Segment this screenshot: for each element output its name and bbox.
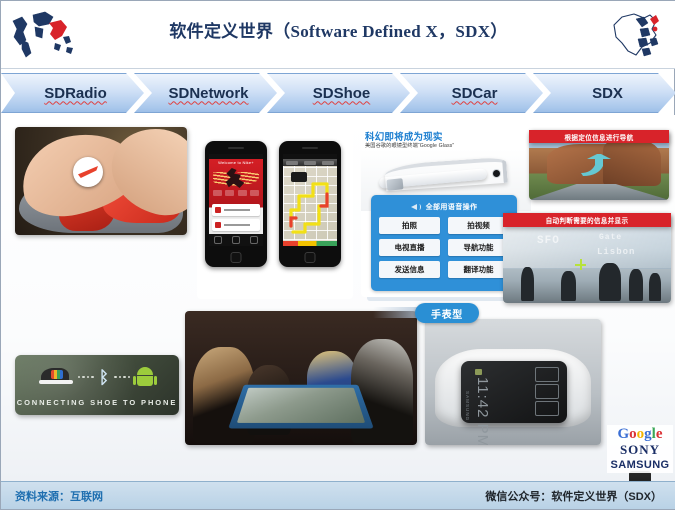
glass-feature-grid: 拍照 拍视频 电视直播 导航功能 发送信息 翻译功能 <box>379 217 509 278</box>
connect-icon-row: ᛒ <box>15 363 179 391</box>
ar-label-gate: Gate <box>599 233 622 242</box>
pace-legend-bar <box>283 241 337 246</box>
watch-tile-contacts[interactable] <box>535 401 559 416</box>
glass-feature-translate[interactable]: 翻译功能 <box>448 261 509 278</box>
google-logo: Google <box>617 427 662 442</box>
ribbon-label: SDX <box>586 85 623 102</box>
ar-crosshair-icon <box>575 259 586 270</box>
source-label: 资料来源：互联网 <box>15 488 103 504</box>
signal-dots-right <box>114 376 130 379</box>
phone-screen <box>283 154 337 246</box>
glass-subheadline: 美国谷歌的眼镜型终端“Google Glass” <box>365 142 529 149</box>
section-ribbon-nav: SDRadio SDNetwork SDShoe SDCar SDX <box>1 73 675 113</box>
watch-face: SAMSUNG 11:42 PM <box>461 361 567 423</box>
airport-glass-wall <box>503 223 671 269</box>
person-silhouette <box>649 273 661 301</box>
tab-bar[interactable] <box>209 234 263 246</box>
photo-samsung-galaxy-gear: SAMSUNG 11:42 PM <box>425 319 601 445</box>
glass-feature-video[interactable]: 拍视频 <box>448 217 509 234</box>
nike-action-card[interactable] <box>212 204 260 216</box>
slide-root: 软件定义世界（Software Defined X，SDX） SDRadio <box>0 0 675 510</box>
watch-tile-message[interactable] <box>535 384 559 399</box>
ribbon-label: SDCar <box>446 85 498 102</box>
nike-swoosh-icon <box>73 157 103 187</box>
ribbon-label: SDRadio <box>38 85 107 102</box>
slide-footer: 资料来源：互联网 微信公众号：软件定义世界（SDX） <box>1 481 675 509</box>
ribbon-item-sdx[interactable]: SDX <box>533 73 675 113</box>
gear-brand-label: SAMSUNG <box>465 391 470 421</box>
nike-action-card[interactable] <box>212 219 260 231</box>
voice-control-label: 全部用语音操作 <box>426 202 478 212</box>
iphone-nike-app: Welcome to Nike+ <box>205 141 267 267</box>
ar-label-sfo: SFO <box>537 235 560 247</box>
ribbon-label: SDShoe <box>307 85 371 102</box>
iphone-route-map <box>279 141 341 267</box>
map-info-callout <box>291 172 307 182</box>
team-icon <box>215 222 221 228</box>
ar-label-lisbon: Lisbon <box>597 247 635 257</box>
touch-table-surface <box>228 385 374 429</box>
glass-camera-icon <box>492 169 501 178</box>
card-text-line <box>224 224 250 226</box>
ribbon-item-sdshoe[interactable]: SDShoe <box>267 73 410 113</box>
voice-control-header: 全部用语音操作 <box>371 201 517 213</box>
phone-speaker <box>302 147 318 149</box>
glass-feature-livetv[interactable]: 电视直播 <box>379 239 440 256</box>
person-silhouette <box>561 271 576 301</box>
glass-feature-photo[interactable]: 拍照 <box>379 217 440 234</box>
glass-headline: 科幻即将成为现实 <box>365 129 443 143</box>
home-button[interactable] <box>305 252 316 263</box>
china-map-logo <box>606 5 668 63</box>
nike-welcome-text: Welcome to Nike+ <box>209 160 263 165</box>
badge-label: 手表型 <box>431 306 463 321</box>
card-text-line <box>224 209 250 211</box>
page-title: 软件定义世界（Software Defined X，SDX） <box>1 17 675 42</box>
person-silhouette <box>599 263 621 301</box>
signal-dots-left <box>78 376 94 379</box>
nike-app-ui: Welcome to Nike+ <box>209 154 263 246</box>
nike-stats-row <box>211 190 261 197</box>
ribbon-item-sdcar[interactable]: SDCar <box>400 73 543 113</box>
touch-table-screen <box>237 388 365 423</box>
ribbon-item-sdnetwork[interactable]: SDNetwork <box>134 73 277 113</box>
sony-logo: SONY <box>620 443 660 457</box>
card-connecting-shoe-to-phone: ᛒ CONNECTING SHOE TO PHONE <box>15 355 179 415</box>
person-silhouette <box>629 269 643 301</box>
ribbon-item-sdradio[interactable]: SDRadio <box>1 73 144 113</box>
photo-multitouch-table <box>185 311 417 445</box>
phone-screen: Welcome to Nike+ <box>209 154 263 246</box>
glass-feature-message[interactable]: 发送信息 <box>379 261 440 278</box>
android-robot-icon <box>135 367 155 387</box>
map-segment-control[interactable] <box>283 159 337 166</box>
run-icon <box>215 207 221 213</box>
bluetooth-icon: ᛒ <box>99 369 109 386</box>
phone-speaker <box>228 147 244 149</box>
banner-ar-info-display: 自动判断需要的信息并显示 <box>503 213 671 227</box>
status-bar <box>209 154 263 159</box>
ribbon-label: SDNetwork <box>162 85 248 102</box>
glass-feature-navigation[interactable]: 导航功能 <box>448 239 509 256</box>
strap-camera-icon <box>475 369 482 375</box>
watch-time-display: 11:42 PM <box>474 377 491 445</box>
banner-ar-navigation: 根据定位信息进行导航 <box>529 130 669 143</box>
slide-header: 软件定义世界（Software Defined X，SDX） <box>1 1 675 69</box>
photo-nike-plus-iphones: Welcome to Nike+ <box>197 127 353 299</box>
glass-feature-panel: 全部用语音操作 拍照 拍视频 电视直播 导航功能 发送信息 翻译功能 <box>371 195 517 291</box>
watch-tile-gallery[interactable] <box>535 367 559 382</box>
connect-caption: CONNECTING SHOE TO PHONE <box>15 398 179 407</box>
home-button[interactable] <box>231 252 242 263</box>
samsung-logo: SAMSUNG <box>610 459 669 471</box>
brand-logo-stack: Google SONY SAMSUNG <box>607 425 673 473</box>
slide-body: ᛒ CONNECTING SHOE TO PHONE Welcome to Ni… <box>1 115 675 481</box>
wechat-label: 微信公众号：软件定义世界（SDX） <box>485 488 662 504</box>
speaker-icon <box>411 202 422 212</box>
photo-nike-sensor-shoe <box>15 127 187 235</box>
badge-watch-type: 手表型 <box>415 303 479 323</box>
map-app-ui <box>283 154 337 246</box>
glass-prism-display <box>386 178 403 191</box>
ar-direction-arrow-icon <box>577 154 617 176</box>
person-silhouette <box>521 267 534 301</box>
sneaker-icon <box>39 368 73 386</box>
